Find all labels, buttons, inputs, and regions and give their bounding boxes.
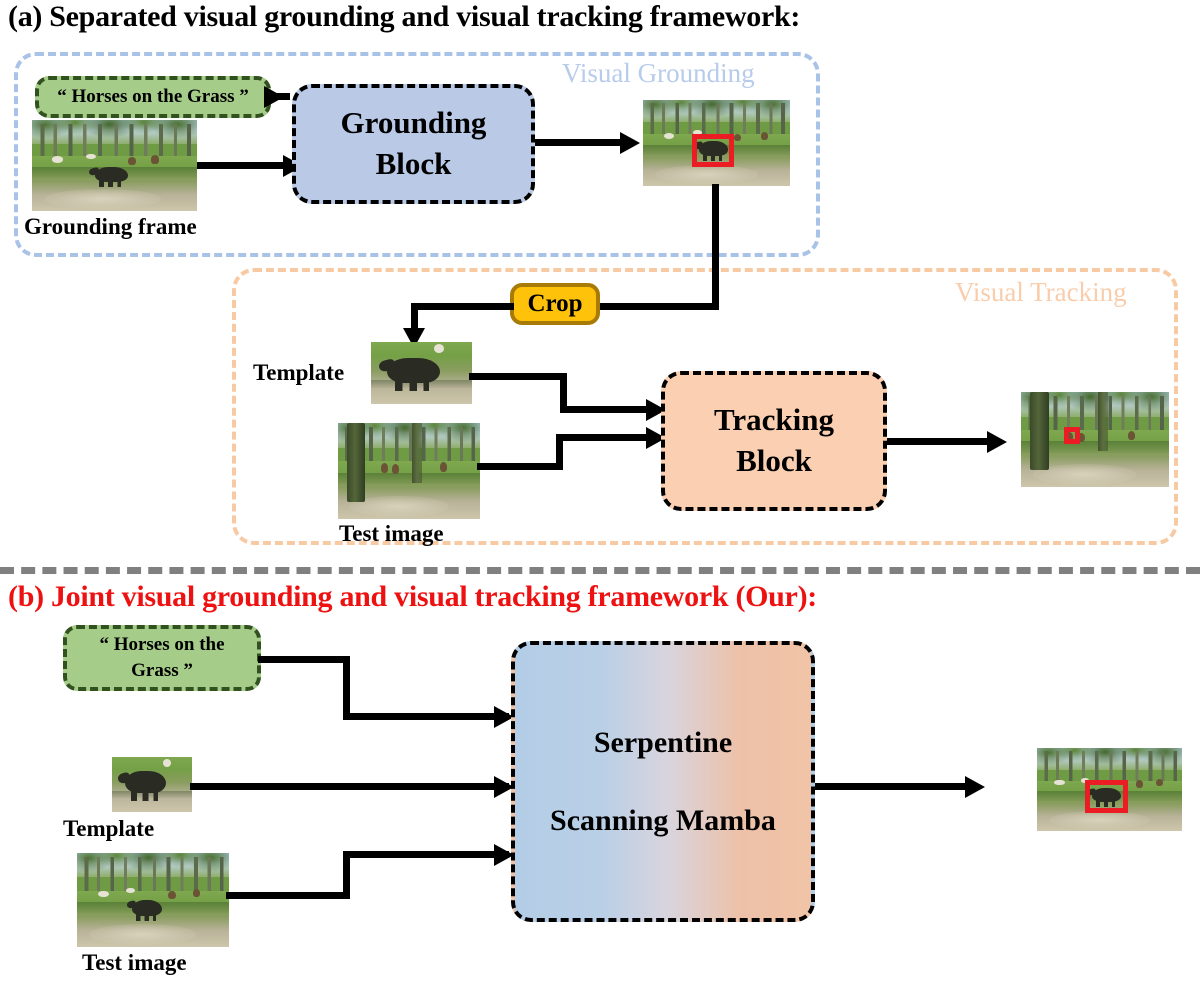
horse-subject [132, 900, 162, 916]
connector-prompt-b-h2 [343, 713, 509, 720]
distant-animal [664, 133, 674, 139]
panel-a-title: (a) Separated visual grounding and visua… [8, 0, 800, 34]
panel-b-title: (b) Joint visual grounding and visual tr… [8, 580, 817, 614]
figure-canvas: (a) Separated visual grounding and visua… [0, 0, 1200, 990]
tracking-block-line2: Block [736, 441, 812, 482]
arrowhead-grounding-to-output [620, 132, 640, 154]
distant-animal [440, 462, 447, 472]
template-image-a [371, 342, 472, 404]
panel-divider [0, 567, 1200, 574]
connector-frame-to-grounding [197, 162, 290, 169]
connector-test-to-tracking-h2 [556, 434, 658, 441]
connector-template-to-tracking-h2 [560, 406, 658, 413]
tracking-output-image [1021, 392, 1169, 487]
prompt-line2: Grass ” [131, 658, 193, 684]
horse-subject [95, 167, 128, 182]
prompt-line1: “ Horses on the [99, 632, 224, 658]
grounding-frame-caption: Grounding frame [24, 214, 197, 240]
grounding-block-line2: Block [376, 144, 452, 185]
connector-prompt-b-h1 [258, 656, 350, 663]
predicted-bounding-box [1064, 427, 1080, 444]
connector-template-b-to-mamba [190, 783, 509, 790]
foreground-tree-trunk [1030, 392, 1049, 470]
distant-animal [1054, 780, 1064, 786]
grounding-output-image [643, 100, 790, 186]
test-image-b [77, 853, 229, 947]
arrowhead-tracking-to-output [987, 431, 1007, 453]
visual-grounding-region-label: Visual Grounding [562, 58, 755, 89]
connector-test-b-h2 [343, 851, 509, 858]
distant-animal [761, 132, 768, 140]
connector-template-to-tracking-v [560, 373, 567, 410]
connector-tracking-to-output [887, 438, 992, 445]
leaf-litter [45, 189, 161, 209]
distant-animal [98, 891, 109, 898]
connector-mamba-to-output [815, 783, 970, 790]
visual-tracking-region-label: Visual Tracking [955, 277, 1127, 308]
distant-animal [128, 157, 136, 165]
distant-animal [1128, 431, 1135, 441]
test-image-caption-a: Test image [339, 521, 444, 547]
serpentine-scanning-mamba-block[interactable]: Serpentine Scanning Mamba [511, 641, 815, 922]
arrowhead-mamba-to-output [965, 776, 985, 798]
text-prompt-box-b[interactable]: “ Horses on the Grass ” [63, 625, 261, 691]
crop-box[interactable]: Crop [510, 283, 600, 325]
connector-output-to-crop [597, 303, 719, 310]
connector-test-to-tracking-h1 [477, 463, 563, 470]
foreground-tree-trunk [347, 423, 365, 502]
distant-animal [151, 155, 159, 163]
distant-animal [392, 464, 399, 474]
connector-crop-to-template [411, 303, 514, 310]
joint-output-image [1037, 748, 1182, 831]
mamba-block-line1: Serpentine [594, 723, 732, 763]
template-caption-b: Template [63, 816, 154, 842]
distant-animal [1136, 780, 1143, 787]
horse-subject [125, 771, 167, 793]
distant-animal [168, 891, 176, 899]
connector-output-down [712, 184, 719, 310]
text-prompt-box-a[interactable]: “ Horses on the Grass ” [35, 76, 271, 118]
predicted-bounding-box [1085, 780, 1129, 813]
template-caption-a: Template [253, 360, 344, 386]
mid-tree-trunk [412, 423, 422, 483]
horse-subject [387, 358, 440, 383]
mid-tree-trunk [1098, 392, 1108, 451]
connector-test-b-v [343, 851, 350, 899]
distant-animal [381, 463, 388, 473]
connector-test-b-h1 [226, 892, 350, 899]
leaf-litter [89, 924, 195, 945]
arrowhead-prompt-to-grounding [264, 86, 284, 108]
mamba-block-line2: Scanning Mamba [550, 801, 776, 841]
tracking-block[interactable]: Tracking Block [661, 371, 887, 511]
grounding-block[interactable]: Grounding Block [292, 84, 535, 204]
template-image-b [112, 757, 192, 812]
grounding-frame-image [32, 120, 197, 211]
connector-grounding-to-output [535, 139, 625, 146]
grounding-block-line1: Grounding [341, 103, 487, 144]
tracking-block-line1: Tracking [714, 400, 834, 441]
distant-animal [1156, 779, 1163, 786]
distant-animal [52, 156, 64, 162]
test-image-a [338, 423, 480, 519]
connector-template-to-tracking-h1 [469, 373, 567, 380]
predicted-bounding-box [692, 134, 735, 167]
test-image-caption-b: Test image [82, 950, 187, 976]
distant-animal [193, 889, 201, 897]
distant-animal [434, 344, 444, 353]
connector-prompt-b-v [343, 656, 350, 717]
